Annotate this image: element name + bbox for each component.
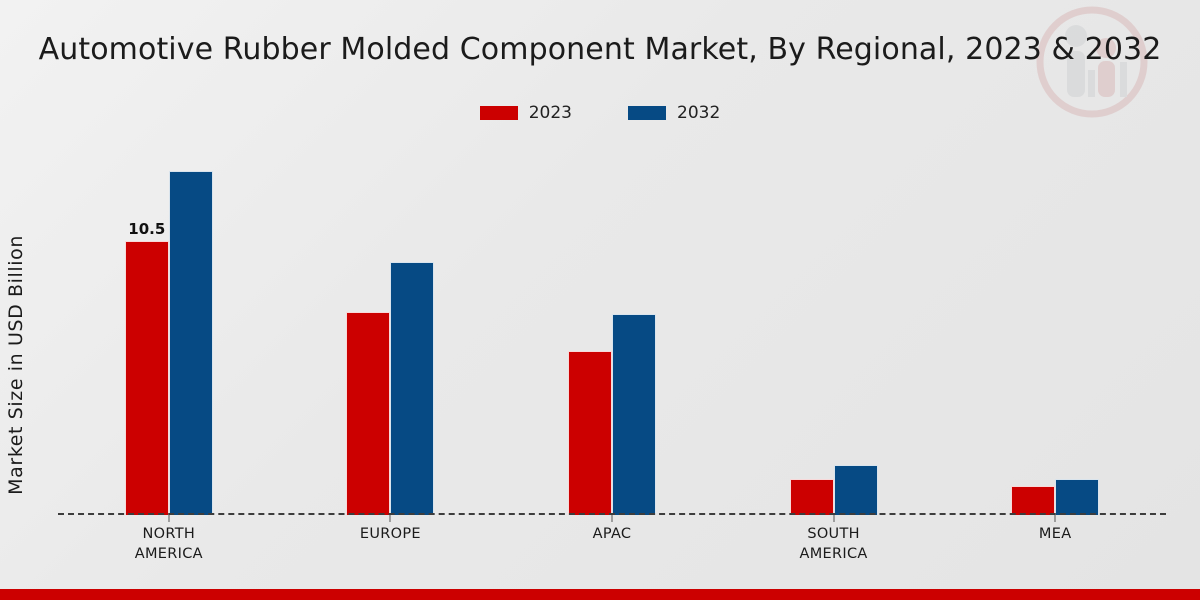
x-axis-tick [168,515,169,522]
x-axis-tick [611,515,612,522]
plot-area: 10.5NORTH AMERICAEUROPEAPACSOUTH AMERICA… [58,150,1166,515]
bar-2023[interactable] [568,351,612,515]
bar-group: MEA [944,150,1166,515]
bar-value-label: 10.5 [128,220,165,238]
legend-item-2032[interactable]: 2032 [628,103,720,123]
x-axis-baseline [58,513,1166,515]
bar-group: EUROPE [280,150,502,515]
y-axis-title: Market Size in USD Billion [2,200,30,530]
bar-2023[interactable] [1011,486,1055,515]
bar-group: 10.5NORTH AMERICA [58,150,280,515]
bar-pair [568,314,656,515]
bar-group: APAC [501,150,723,515]
x-axis-category-label: MEA [1039,524,1072,544]
bar-2032[interactable] [169,171,213,515]
chart-container: Automotive Rubber Molded Component Marke… [0,0,1200,600]
chart-title: Automotive Rubber Molded Component Marke… [0,32,1200,67]
bar-pair [346,262,434,515]
bar-groups: 10.5NORTH AMERICAEUROPEAPACSOUTH AMERICA… [58,150,1166,515]
x-axis-category-label: EUROPE [360,524,421,544]
bar-2023[interactable] [790,479,834,516]
legend-label-2032: 2032 [677,103,720,123]
x-axis-category-label: SOUTH AMERICA [800,524,868,564]
footer-strip [0,589,1200,600]
bar-pair: 10.5 [125,171,213,515]
x-axis-tick [390,515,391,522]
legend-item-2023[interactable]: 2023 [480,103,572,123]
bar-2023[interactable] [346,312,390,515]
x-axis-category-label: APAC [593,524,632,544]
x-axis-category-label: NORTH AMERICA [135,524,203,564]
x-axis-tick [1055,515,1056,522]
bar-2032[interactable] [390,262,434,515]
bar-group: SOUTH AMERICA [723,150,945,515]
bar-2023[interactable]: 10.5 [125,241,169,515]
y-axis-title-text: Market Size in USD Billion [5,235,27,495]
bar-2032[interactable] [834,465,878,515]
chart-legend: 2023 2032 [0,103,1200,123]
legend-swatch-2023 [480,106,518,120]
x-axis-tick [833,515,834,522]
legend-swatch-2032 [628,106,666,120]
bar-2032[interactable] [612,314,656,515]
bar-pair [1011,479,1099,516]
bar-2032[interactable] [1055,479,1099,516]
legend-label-2023: 2023 [529,103,572,123]
bar-pair [790,465,878,515]
